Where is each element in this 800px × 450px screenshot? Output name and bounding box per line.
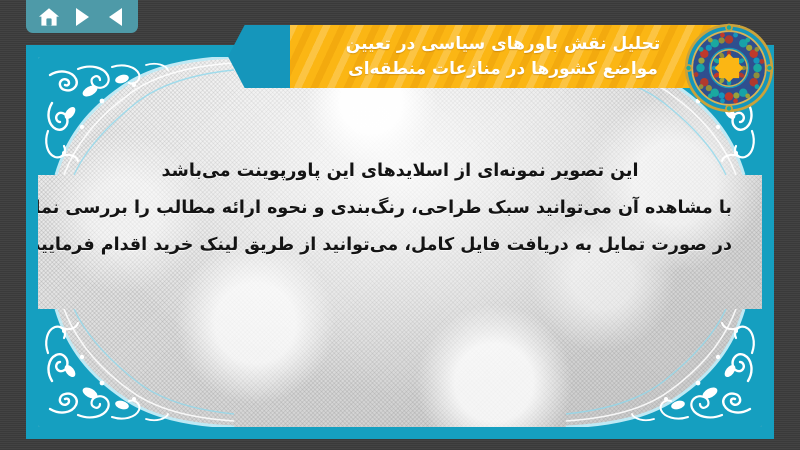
slide-content-area: این تصویر نمونه‌ای از اسلایدهای این پاور… xyxy=(38,57,762,427)
slide-body-text: این تصویر نمونه‌ای از اسلایدهای این پاور… xyxy=(38,153,762,264)
slide-frame: این تصویر نمونه‌ای از اسلایدهای این پاور… xyxy=(26,45,774,439)
arabesque-corner-ornament-bottom-left xyxy=(38,309,234,427)
arabesque-corner-ornament-bottom-right xyxy=(566,309,762,427)
slide-viewer: تحلیل نقش باورهای سیاسی در تعیین مواضع ک… xyxy=(0,0,800,450)
body-line-1: این تصویر نمونه‌ای از اسلایدهای این پاور… xyxy=(68,153,732,190)
previous-slide-button[interactable] xyxy=(102,5,128,29)
triangle-left-icon xyxy=(109,8,122,26)
body-line-3: در صورت تمایل به دریافت فایل کامل، می‌تو… xyxy=(68,227,732,264)
body-line-2: با مشاهده آن می‌توانید سبک طراحی، رنگ‌بن… xyxy=(68,190,732,227)
next-slide-button[interactable] xyxy=(69,5,95,29)
navigation-toolbar xyxy=(26,0,138,33)
home-icon xyxy=(38,7,60,27)
triangle-right-icon xyxy=(76,8,89,26)
persian-medallion-icon xyxy=(683,22,775,114)
page-title: تحلیل نقش باورهای سیاسی در تعیین مواضع ک… xyxy=(290,25,740,88)
home-button[interactable] xyxy=(36,5,62,29)
title-banner: تحلیل نقش باورهای سیاسی در تعیین مواضع ک… xyxy=(290,25,740,88)
